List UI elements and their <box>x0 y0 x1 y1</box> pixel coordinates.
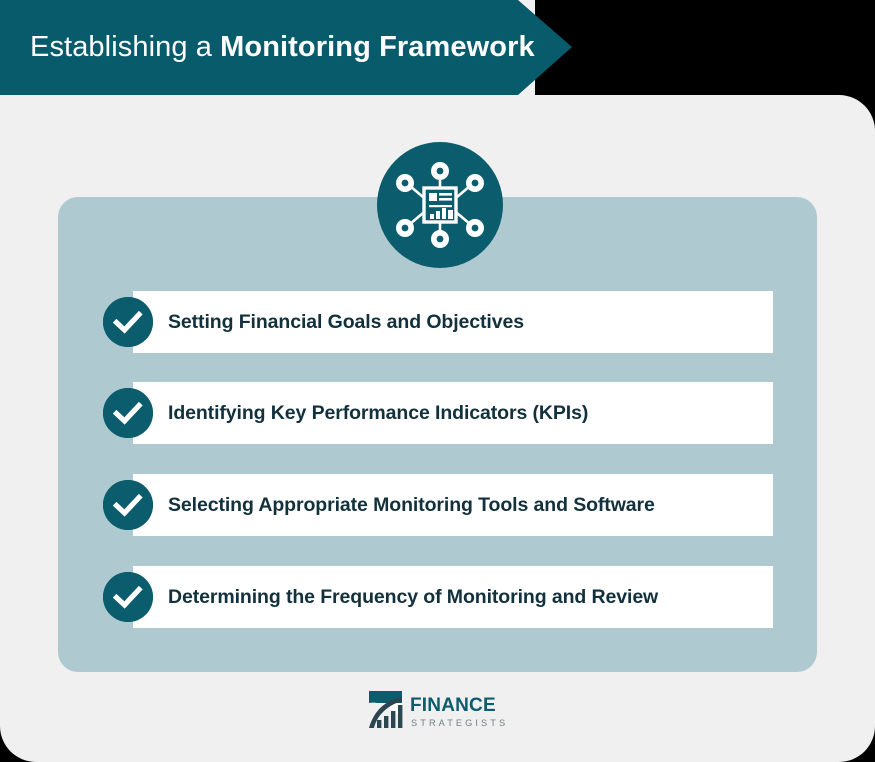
logo-primary-text: FINANCE <box>410 695 496 716</box>
list-item[interactable]: Selecting Appropriate Monitoring Tools a… <box>58 474 817 536</box>
list-item[interactable]: Identifying Key Performance Indicators (… <box>58 382 817 444</box>
check-circle-icon <box>103 297 153 347</box>
logo-secondary-text: STRATEGISTS <box>411 718 508 728</box>
page-title-regular: Establishing a <box>30 31 220 63</box>
network-analytics-icon <box>377 142 503 268</box>
list-item-label: Setting Financial Goals and Objectives <box>168 291 524 353</box>
logo-mark <box>369 691 402 728</box>
header-banner: Establishing a Monitoring Framework <box>0 0 572 95</box>
check-circle-icon <box>103 572 153 622</box>
page-title: Establishing a Monitoring Framework <box>0 31 535 64</box>
check-circle-icon <box>103 388 153 438</box>
list-item-label: Determining the Frequency of Monitoring … <box>168 566 658 628</box>
checklist: Setting Financial Goals and Objectives I… <box>58 197 817 672</box>
infographic-card: Establishing a Monitoring Framework <box>0 0 875 762</box>
page-title-bold: Monitoring Framework <box>220 31 535 63</box>
list-item[interactable]: Setting Financial Goals and Objectives <box>58 291 817 353</box>
check-circle-icon <box>103 480 153 530</box>
list-item-label: Identifying Key Performance Indicators (… <box>168 382 588 444</box>
list-item-label: Selecting Appropriate Monitoring Tools a… <box>168 474 655 536</box>
finance-strategists-logo: FINANCE STRATEGISTS <box>368 688 508 732</box>
list-item[interactable]: Determining the Frequency of Monitoring … <box>58 566 817 628</box>
card-corner-notch <box>535 0 875 95</box>
card-corner-round <box>835 95 875 135</box>
